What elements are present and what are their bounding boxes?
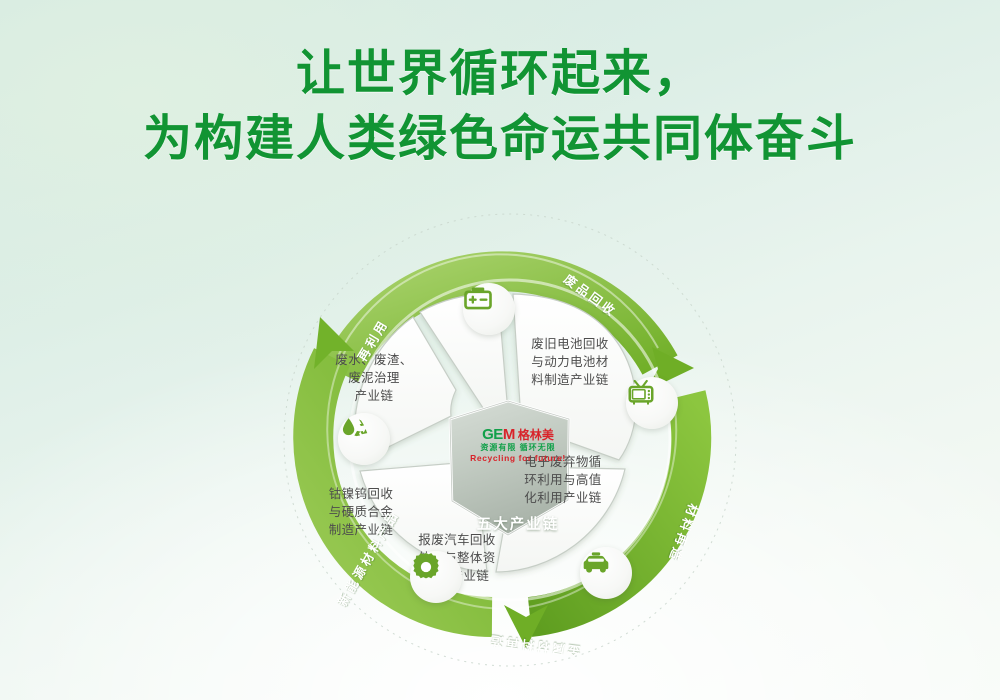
battery-icon-badge[interactable] (463, 283, 515, 335)
car-icon (580, 547, 612, 579)
headline-line-2: 为构建人类绿色命运共同体奋斗 (0, 107, 1000, 172)
water-recycle-icon (338, 413, 370, 445)
gem-logo-slogan-en: Recycling for future! (466, 454, 570, 463)
water-recycle-icon-badge[interactable] (338, 413, 390, 465)
gear-icon (410, 551, 442, 583)
television-icon (626, 377, 656, 407)
headline-line-1: 让世界循环起来， (296, 47, 704, 101)
gem-logo-wordmark: GEM 格林美 (466, 427, 570, 442)
car-icon-badge[interactable] (580, 547, 632, 599)
television-icon-badge[interactable] (626, 377, 678, 429)
gem-logo-slogan-cn: 资源有限 循环无限 (466, 444, 570, 452)
page-title: 让世界循环起来， 为构建人类绿色命运共同体奋斗 (0, 42, 1000, 171)
battery-icon (463, 283, 493, 313)
gem-logo-company-cn: 格林美 (518, 429, 554, 441)
five-industry-chain-diagram: 废旧电池回收 与动力电池材 料制造产业链 电子废弃物循 环利用与高值 化利用产业… (280, 205, 740, 675)
gem-logo: GEM 格林美 资源有限 循环无限 Recycling for future! (466, 427, 570, 499)
center-caption: 五大产业链 (466, 513, 570, 534)
poster-canvas: 让世界循环起来， 为构建人类绿色命运共同体奋斗 (0, 0, 1000, 700)
gem-logo-mark: GEM (482, 427, 515, 442)
gear-icon-badge[interactable] (410, 551, 462, 603)
